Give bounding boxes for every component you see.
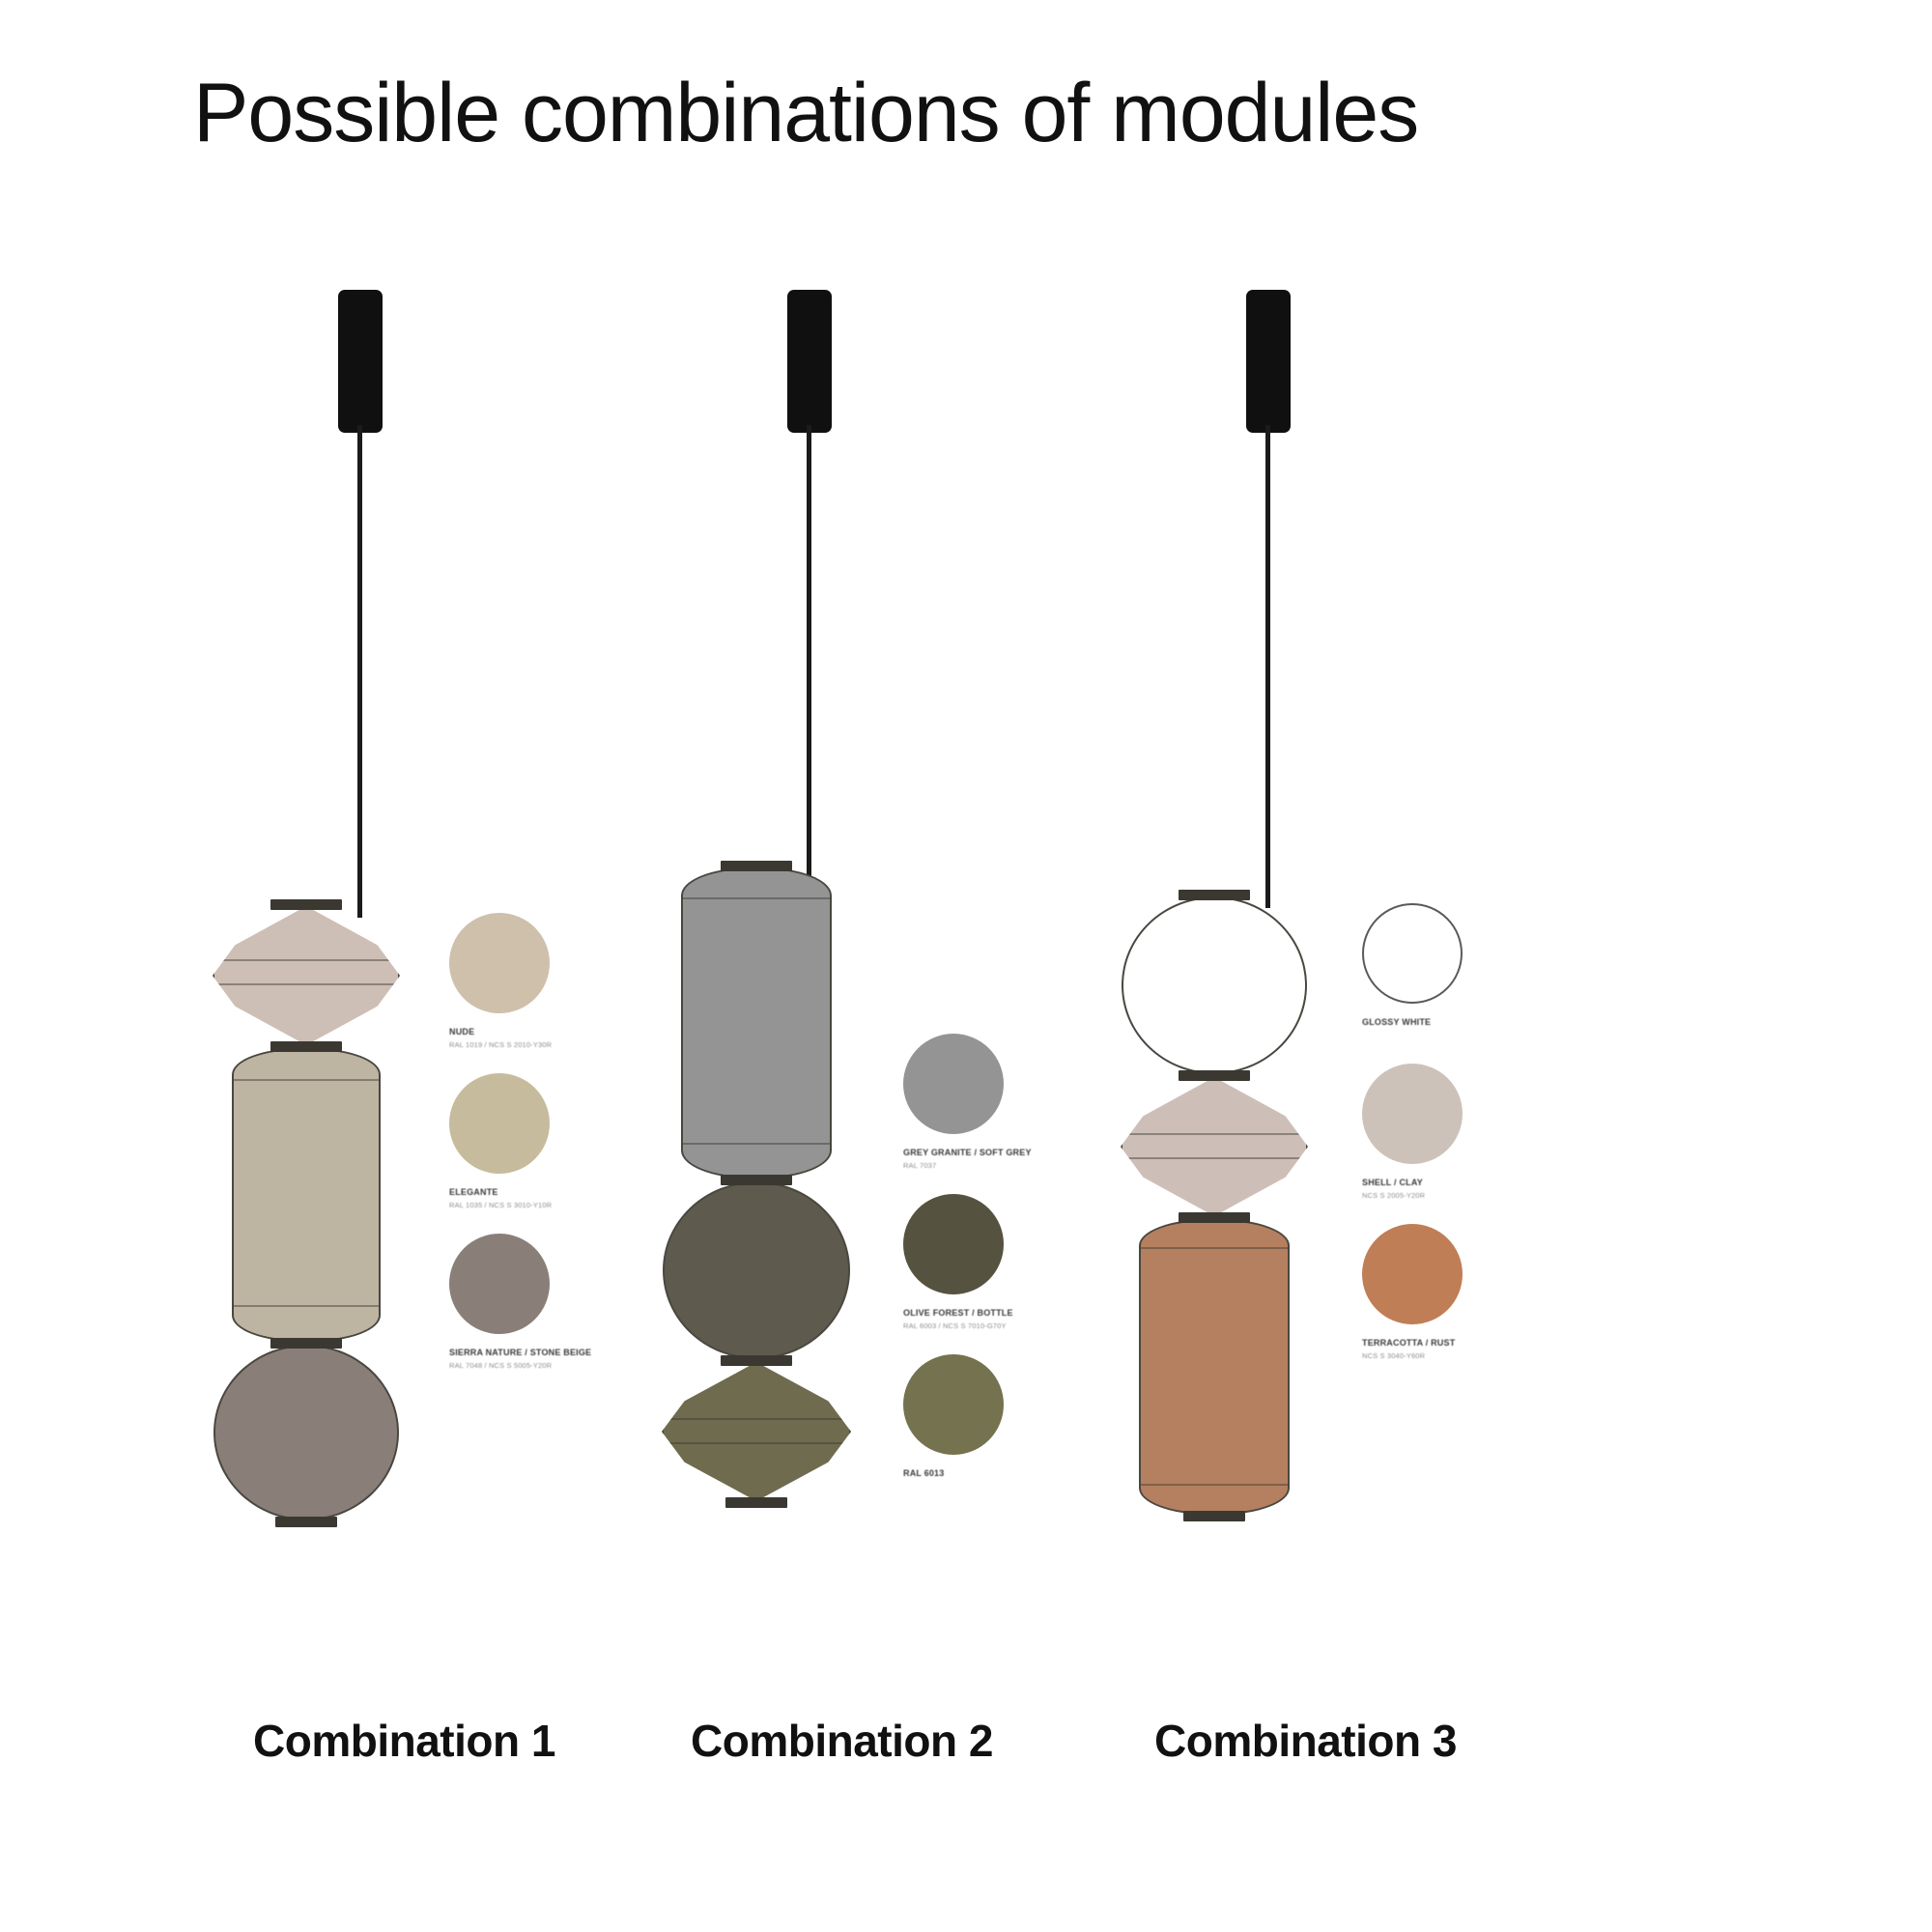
rib-line <box>664 1442 849 1444</box>
combination-3-diagram: GLOSSY WHITE SHELL / CLAY NCS S 2005-Y20… <box>1072 270 1613 1671</box>
swatch-item[interactable]: GREY GRANITE / SOFT GREY RAL 7037 <box>903 1034 1048 1171</box>
poster-canvas: Possible combinations of modules <box>0 0 1932 1932</box>
module-stack <box>213 903 400 1523</box>
swatch-name: OLIVE FOREST / BOTTLE <box>903 1307 1048 1319</box>
caption-combination-1: Combination 1 <box>253 1715 555 1767</box>
rib-line <box>214 983 398 985</box>
module-connector <box>270 1041 342 1052</box>
module-connector <box>721 1355 792 1366</box>
swatch-name: GLOSSY WHITE <box>1362 1016 1507 1028</box>
swatch-item[interactable]: GLOSSY WHITE <box>1362 903 1507 1031</box>
module-connector <box>275 1517 337 1527</box>
module-connector <box>270 1338 342 1349</box>
barrel-module[interactable] <box>232 1048 381 1342</box>
swatch-name: RAL 6013 <box>903 1467 1048 1479</box>
module-connector <box>1179 1070 1250 1081</box>
diamond-module[interactable] <box>662 1362 851 1501</box>
color-chip <box>903 1194 1004 1294</box>
color-chip <box>1362 903 1463 1004</box>
swatch-name: SHELL / CLAY <box>1362 1177 1507 1188</box>
swatch-name: SIERRA NATURE / STONE BEIGE <box>449 1347 594 1358</box>
module-connector <box>1183 1511 1245 1521</box>
rib-line <box>1122 1157 1306 1159</box>
color-chip <box>449 913 550 1013</box>
diamond-module[interactable] <box>213 906 400 1045</box>
swatch-code: RAL 7037 <box>903 1161 1048 1171</box>
suspension-cord <box>1265 425 1270 908</box>
swatch-name: GREY GRANITE / SOFT GREY <box>903 1147 1048 1158</box>
ceiling-canopy-icon <box>338 290 383 433</box>
swatch-item[interactable]: SHELL / CLAY NCS S 2005-Y20R <box>1362 1064 1507 1201</box>
module-stack <box>1121 894 1308 1518</box>
rib-line <box>1141 1247 1288 1249</box>
swatch-item[interactable]: NUDE RAL 1019 / NCS S 2010-Y30R <box>449 913 594 1050</box>
lamp-diagram-area: NUDE RAL 1019 / NCS S 2010-Y30R ELEGANTE… <box>0 270 1932 1671</box>
ceiling-canopy-icon <box>1246 290 1291 433</box>
module-connector <box>1179 890 1250 900</box>
module-connector <box>1179 1212 1250 1223</box>
rib-line <box>664 1418 849 1420</box>
swatch-code: RAL 7048 / NCS S 5005-Y20R <box>449 1361 594 1371</box>
swatch-code: RAL 1019 / NCS S 2010-Y30R <box>449 1040 594 1050</box>
swatch-code: NCS S 3040-Y60R <box>1362 1351 1507 1361</box>
sphere-module[interactable] <box>663 1181 850 1359</box>
swatch-code: NCS S 2005-Y20R <box>1362 1191 1507 1201</box>
swatch-code: RAL 6003 / NCS S 7010-G70Y <box>903 1321 1048 1331</box>
rib-line <box>1122 1133 1306 1135</box>
swatch-item[interactable]: RAL 6013 <box>903 1354 1048 1482</box>
color-chip <box>449 1234 550 1334</box>
swatch-name: NUDE <box>449 1026 594 1037</box>
ceiling-canopy-icon <box>787 290 832 433</box>
diamond-module[interactable] <box>1121 1077 1308 1216</box>
rib-line <box>1141 1484 1288 1486</box>
caption-combination-3: Combination 3 <box>1154 1715 1457 1767</box>
sphere-module[interactable] <box>1122 896 1307 1074</box>
page-title: Possible combinations of modules <box>193 66 1418 161</box>
swatch-name: ELEGANTE <box>449 1186 594 1198</box>
caption-row: Combination 1 Combination 2 Combination … <box>0 1715 1932 1792</box>
color-chip <box>1362 1064 1463 1164</box>
swatch-item[interactable]: ELEGANTE RAL 1035 / NCS S 3010-Y10R <box>449 1073 594 1210</box>
module-connector <box>725 1497 787 1508</box>
rib-line <box>683 897 830 899</box>
color-chip <box>1362 1224 1463 1324</box>
caption-combination-2: Combination 2 <box>691 1715 993 1767</box>
suspension-cord <box>357 425 362 918</box>
swatch-code: RAL 1035 / NCS S 3010-Y10R <box>449 1201 594 1210</box>
color-chip <box>903 1034 1004 1134</box>
sphere-module[interactable] <box>213 1345 399 1520</box>
barrel-module[interactable] <box>1139 1219 1290 1515</box>
module-stack <box>662 865 851 1504</box>
rib-line <box>683 1143 830 1145</box>
swatch-item[interactable]: SIERRA NATURE / STONE BEIGE RAL 7048 / N… <box>449 1234 594 1371</box>
module-connector <box>721 1175 792 1185</box>
rib-line <box>234 1305 379 1307</box>
module-connector <box>270 899 342 910</box>
swatch-name: TERRACOTTA / RUST <box>1362 1337 1507 1349</box>
module-connector <box>721 861 792 871</box>
barrel-module[interactable] <box>681 867 832 1179</box>
suspension-cord <box>807 425 811 879</box>
rib-line <box>234 1079 379 1081</box>
swatch-item[interactable]: OLIVE FOREST / BOTTLE RAL 6003 / NCS S 7… <box>903 1194 1048 1331</box>
color-chip <box>449 1073 550 1174</box>
color-chip <box>903 1354 1004 1455</box>
rib-line <box>214 959 398 961</box>
swatch-item[interactable]: TERRACOTTA / RUST NCS S 3040-Y60R <box>1362 1224 1507 1361</box>
